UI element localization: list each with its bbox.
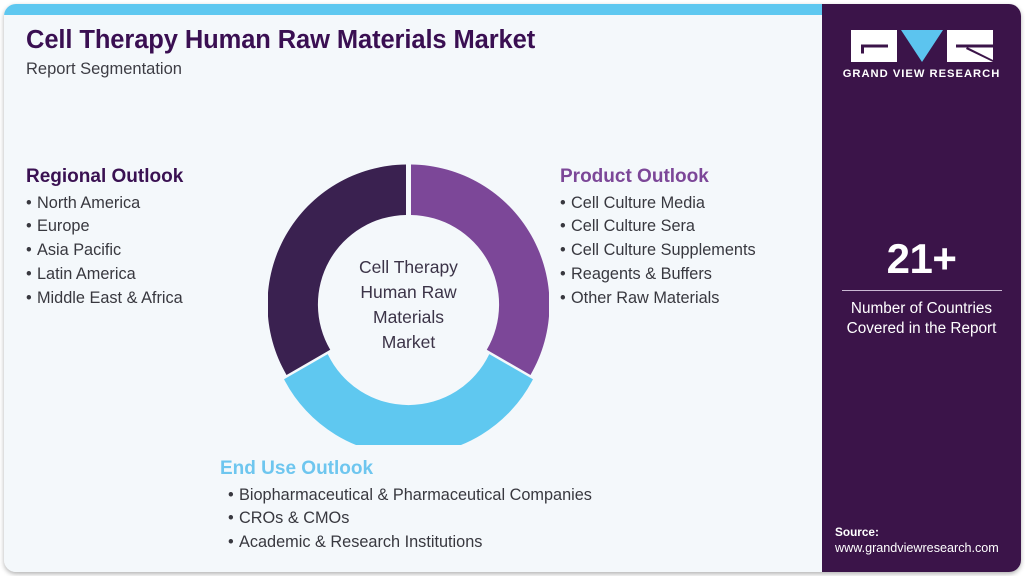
stat-caption-line: Number of Countries bbox=[822, 299, 1021, 319]
source-label: Source: bbox=[835, 524, 1021, 540]
segmentation-donut-chart: Cell Therapy Human Raw Materials Market bbox=[268, 164, 549, 445]
bullet-icon: • bbox=[228, 507, 239, 531]
infographic-card: Cell Therapy Human Raw Materials Market … bbox=[4, 4, 1021, 572]
donut-svg bbox=[268, 164, 549, 445]
list-item-label: Reagents & Buffers bbox=[571, 265, 712, 283]
list-item: •Latin America bbox=[26, 263, 276, 287]
list-item-label: Cell Culture Supplements bbox=[571, 241, 756, 259]
product-outlook-heading: Product Outlook bbox=[560, 165, 815, 189]
regional-outlook-block: Regional Outlook •North America •Europe … bbox=[26, 165, 276, 310]
side-panel: GRAND VIEW RESEARCH 21+ Number of Countr… bbox=[822, 4, 1021, 572]
list-item-label: Europe bbox=[37, 217, 90, 235]
logo-g-icon bbox=[851, 30, 897, 62]
list-item-label: Middle East & Africa bbox=[37, 289, 183, 307]
brand-logo: GRAND VIEW RESEARCH bbox=[822, 30, 1021, 80]
bullet-icon: • bbox=[228, 531, 239, 555]
regional-outlook-heading: Regional Outlook bbox=[26, 165, 276, 189]
stat-divider bbox=[842, 290, 1002, 291]
end-use-outlook-heading: End Use Outlook bbox=[220, 457, 780, 481]
page-title: Cell Therapy Human Raw Materials Market bbox=[26, 26, 806, 55]
content-area: Cell Therapy Human Raw Materials Market … bbox=[4, 4, 822, 572]
regional-outlook-list: •North America •Europe •Asia Pacific •La… bbox=[26, 192, 276, 311]
list-item: •CROs & CMOs bbox=[228, 507, 780, 531]
bullet-icon: • bbox=[560, 263, 571, 287]
list-item-label: North America bbox=[37, 194, 140, 212]
donut-segment-product bbox=[411, 165, 549, 375]
source-block: Source: www.grandviewresearch.com bbox=[835, 524, 1021, 557]
top-accent-bar bbox=[4, 4, 822, 15]
logo-marks bbox=[822, 30, 1021, 62]
header: Cell Therapy Human Raw Materials Market … bbox=[26, 26, 806, 80]
list-item-label: Cell Culture Sera bbox=[571, 217, 695, 235]
list-item-label: CROs & CMOs bbox=[239, 509, 349, 527]
list-item: •Biopharmaceutical & Pharmaceutical Comp… bbox=[228, 484, 780, 508]
bullet-icon: • bbox=[560, 239, 571, 263]
source-url[interactable]: www.grandviewresearch.com bbox=[835, 540, 1021, 557]
list-item-label: Cell Culture Media bbox=[571, 194, 705, 212]
bullet-icon: • bbox=[26, 263, 37, 287]
product-outlook-block: Product Outlook •Cell Culture Media •Cel… bbox=[560, 165, 815, 310]
list-item-label: Biopharmaceutical & Pharmaceutical Compa… bbox=[239, 486, 592, 504]
end-use-outlook-block: End Use Outlook •Biopharmaceutical & Pha… bbox=[220, 457, 780, 555]
end-use-outlook-list: •Biopharmaceutical & Pharmaceutical Comp… bbox=[220, 484, 780, 555]
list-item: •Europe bbox=[26, 215, 276, 239]
logo-wordmark: GRAND VIEW RESEARCH bbox=[822, 68, 1021, 80]
list-item: •Academic & Research Institutions bbox=[228, 531, 780, 555]
bullet-icon: • bbox=[560, 215, 571, 239]
stat-value: 21+ bbox=[822, 238, 1021, 280]
list-item-label: Other Raw Materials bbox=[571, 289, 719, 307]
page-subtitle: Report Segmentation bbox=[26, 60, 806, 80]
list-item: •Reagents & Buffers bbox=[560, 263, 815, 287]
logo-r-icon bbox=[947, 30, 993, 62]
bullet-icon: • bbox=[228, 484, 239, 508]
donut-segment-regional bbox=[268, 165, 406, 375]
logo-v-triangle-icon bbox=[901, 30, 943, 62]
list-item: •Cell Culture Media bbox=[560, 192, 815, 216]
list-item-label: Academic & Research Institutions bbox=[239, 533, 482, 551]
donut-segment-end-use bbox=[284, 354, 533, 445]
list-item: •Cell Culture Sera bbox=[560, 215, 815, 239]
bullet-icon: • bbox=[560, 287, 571, 311]
list-item: •Cell Culture Supplements bbox=[560, 239, 815, 263]
list-item: •Middle East & Africa bbox=[26, 287, 276, 311]
country-count-stat: 21+ Number of Countries Covered in the R… bbox=[822, 238, 1021, 339]
bullet-icon: • bbox=[26, 239, 37, 263]
bullet-icon: • bbox=[26, 215, 37, 239]
list-item-label: Asia Pacific bbox=[37, 241, 121, 259]
list-item: •Asia Pacific bbox=[26, 239, 276, 263]
product-outlook-list: •Cell Culture Media •Cell Culture Sera •… bbox=[560, 192, 815, 311]
stat-caption-line: Covered in the Report bbox=[822, 319, 1021, 339]
list-item: •North America bbox=[26, 192, 276, 216]
list-item: •Other Raw Materials bbox=[560, 287, 815, 311]
bullet-icon: • bbox=[26, 287, 37, 311]
bullet-icon: • bbox=[560, 192, 571, 216]
list-item-label: Latin America bbox=[37, 265, 136, 283]
bullet-icon: • bbox=[26, 192, 37, 216]
stat-caption: Number of Countries Covered in the Repor… bbox=[822, 299, 1021, 339]
infographic-root: Cell Therapy Human Raw Materials Market … bbox=[0, 0, 1025, 576]
